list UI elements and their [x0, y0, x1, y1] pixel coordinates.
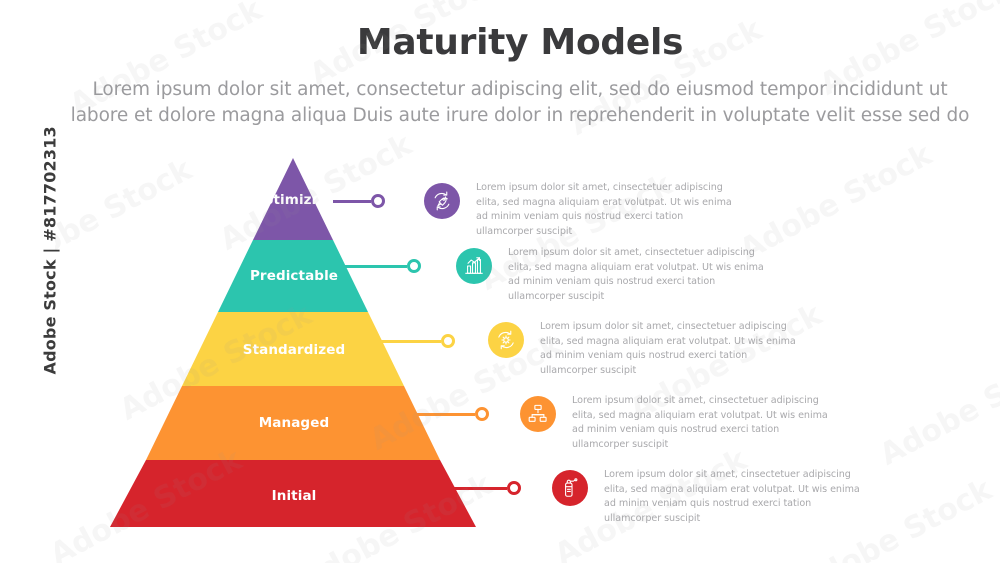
bar-chart-growth-icon [456, 248, 492, 284]
fire-extinguisher-icon [552, 470, 588, 506]
stage-row-managed[interactable]: Lorem ipsum dolor sit amet, cinsectetuer… [520, 394, 830, 452]
stage-row-initial[interactable]: Lorem ipsum dolor sit amet, cinsectetuer… [552, 468, 862, 526]
stage-description: Lorem ipsum dolor sit amet, cinsectetuer… [604, 468, 862, 526]
header: Maturity Models Lorem ipsum dolor sit am… [55, 22, 985, 128]
stage-row-predictable[interactable]: Lorem ipsum dolor sit amet, cinsectetuer… [456, 246, 766, 304]
connector-line [433, 487, 507, 490]
pyramid-label-initial: Initial [149, 488, 439, 504]
connector-dot[interactable] [507, 481, 521, 495]
page-subtitle: Lorem ipsum dolor sit amet, consectetur … [70, 77, 970, 128]
connector-line [367, 340, 441, 343]
connector-dot[interactable] [441, 334, 455, 348]
connector-dot[interactable] [407, 259, 421, 273]
connector-dot[interactable] [371, 194, 385, 208]
connector-line [333, 200, 371, 203]
watermark-credit-label: Adobe Stock | #817702313 [41, 135, 60, 375]
watermark-sidebar: Adobe Stock | #817702313 [0, 0, 55, 563]
gear-recycle-icon [488, 322, 524, 358]
page-title: Maturity Models [55, 22, 985, 63]
connector-managed [401, 405, 489, 423]
infographic-canvas: Adobe Stock Adobe Stock Adobe Stock Adob… [0, 0, 1000, 563]
stage-description: Lorem ipsum dolor sit amet, cinsectetuer… [476, 181, 734, 239]
stage-description: Lorem ipsum dolor sit amet, cinsectetuer… [508, 246, 766, 304]
stage-description: Lorem ipsum dolor sit amet, cinsectetuer… [540, 320, 798, 378]
hierarchy-chart-icon [520, 396, 556, 432]
connector-dot[interactable] [475, 407, 489, 421]
stage-row-standardized[interactable]: Lorem ipsum dolor sit amet, cinsectetuer… [488, 320, 798, 378]
connector-line [335, 265, 407, 268]
pyramid-label-optimizing: Optimizing [149, 192, 439, 208]
stage-description: Lorem ipsum dolor sit amet, cinsectetuer… [572, 394, 830, 452]
connector-predictable [335, 257, 421, 275]
pyramid-label-managed: Managed [149, 415, 439, 431]
stage-row-optimizing[interactable]: Lorem ipsum dolor sit amet, cinsectetuer… [424, 181, 734, 239]
connector-optimizing [333, 192, 385, 210]
rocket-recycle-icon [424, 183, 460, 219]
connector-standardized [367, 332, 455, 350]
connector-line [401, 413, 475, 416]
connector-initial [433, 479, 521, 497]
watermark-tile: Adobe Stock [874, 342, 1000, 472]
